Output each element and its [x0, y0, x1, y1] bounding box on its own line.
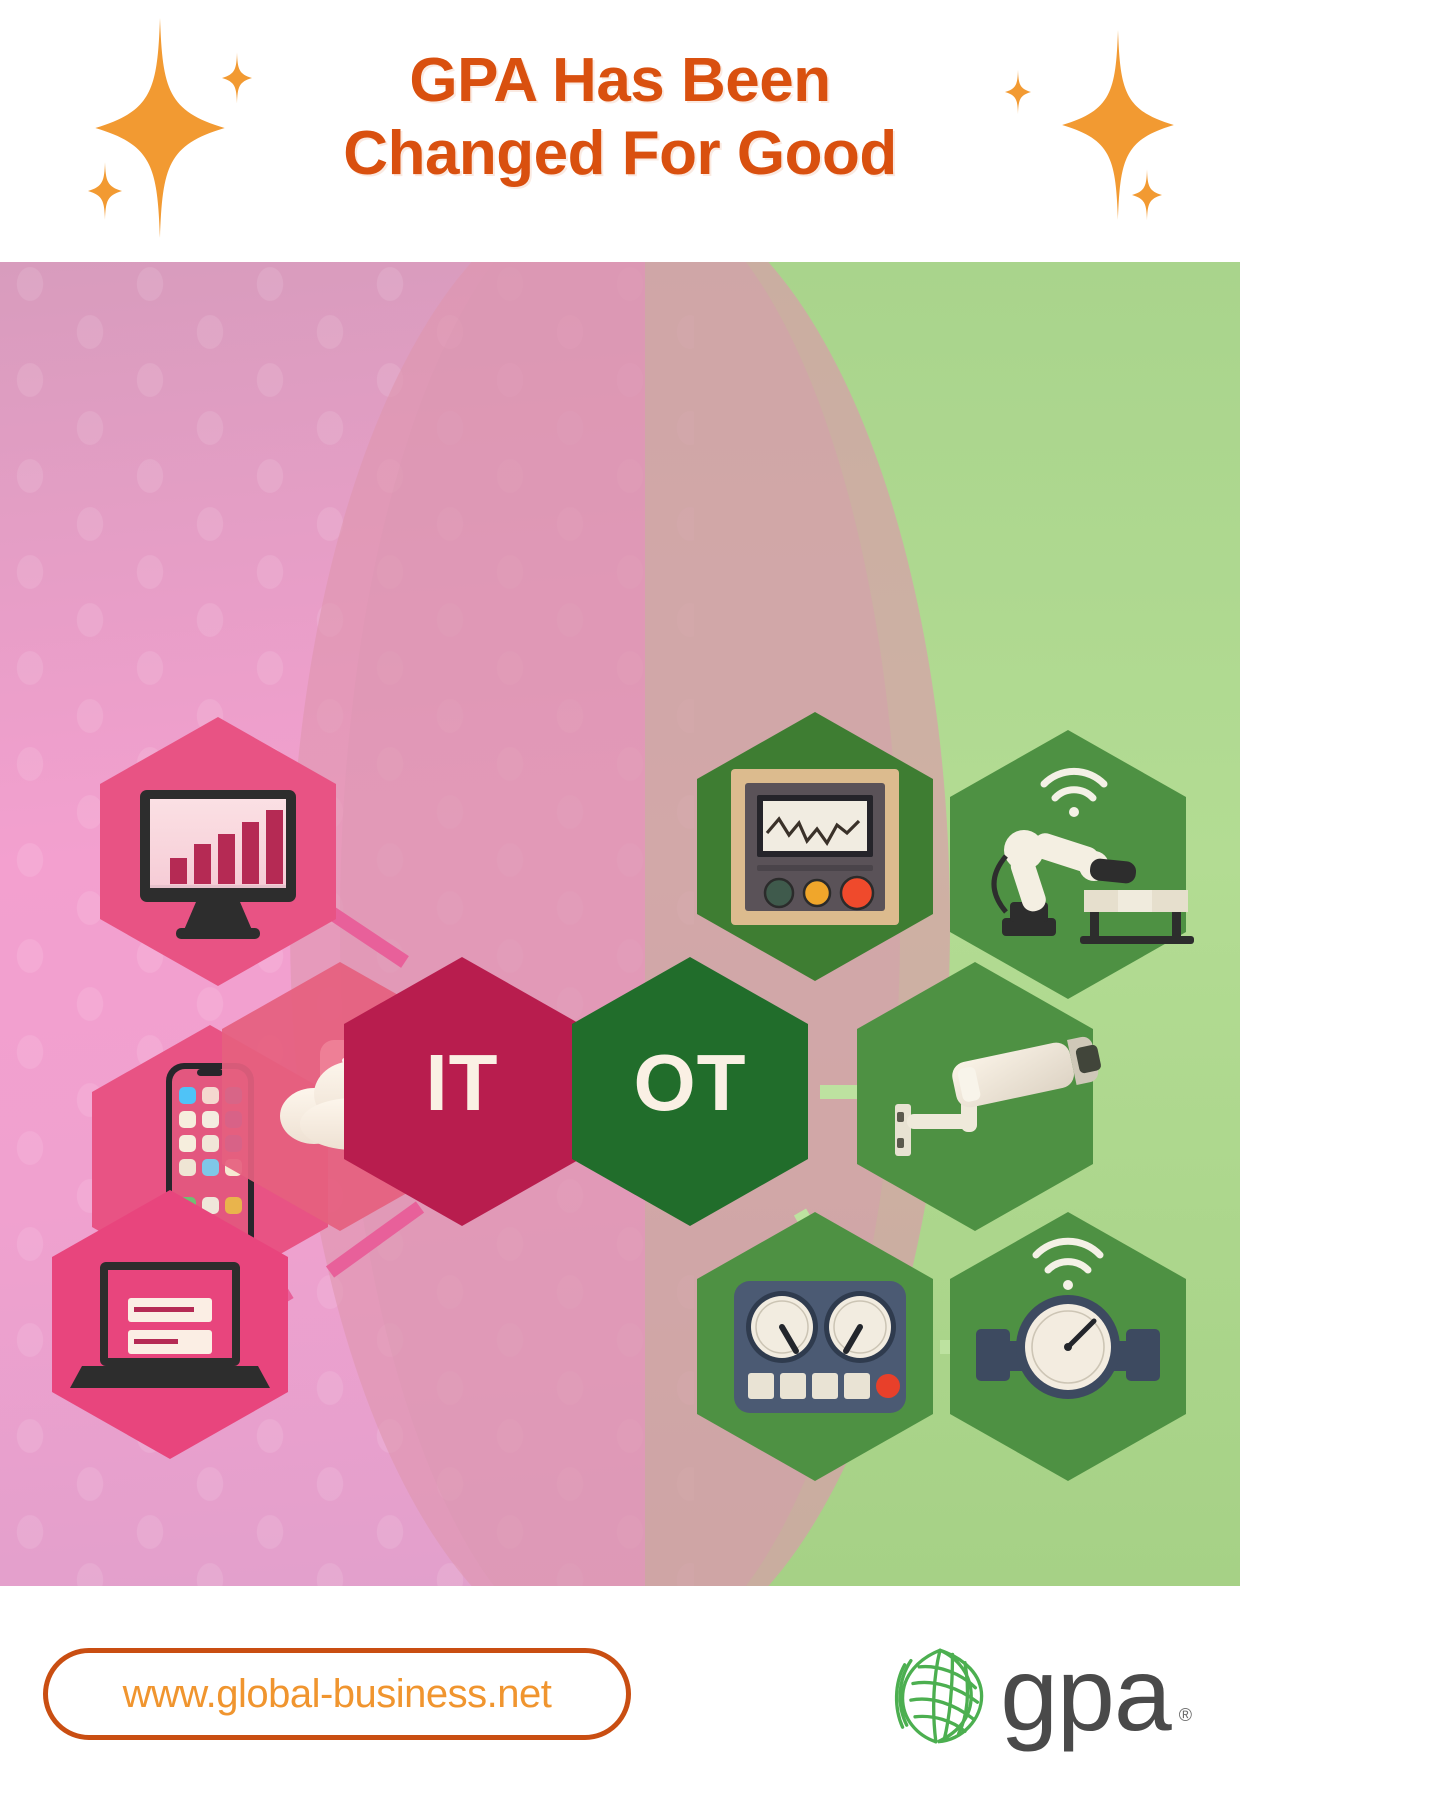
- hex-node-ot-center: [572, 957, 808, 1226]
- website-url-pill[interactable]: www.global-business.net: [43, 1648, 631, 1740]
- gpa-wordmark: gpa: [1000, 1648, 1171, 1744]
- hex-node-gauge-panel: [697, 1212, 933, 1481]
- globe-mark-icon: [888, 1644, 992, 1748]
- hex-node-desktop-analytics: [100, 717, 336, 986]
- hexagon-network: [0, 262, 1240, 1586]
- hex-node-robot-arm: [950, 730, 1194, 999]
- registered-trademark-symbol: ®: [1179, 1705, 1192, 1726]
- page-title-line-1: GPA Has Been: [0, 44, 1240, 117]
- hex-node-flow-meter: [950, 1212, 1186, 1481]
- hex-node-security-camera: [857, 962, 1104, 1231]
- it-ot-diagram: IT OT: [0, 262, 1240, 1586]
- header-banner: GPA Has Been Changed For Good: [0, 0, 1240, 262]
- footer-bar: www.global-business.net: [0, 1586, 1240, 1800]
- hex-node-hmi-panel: [697, 712, 933, 981]
- page-title: GPA Has Been Changed For Good: [0, 44, 1240, 190]
- infographic-page: GPA Has Been Changed For Good: [0, 0, 1240, 1800]
- gpa-logo: gpa ®: [888, 1644, 1192, 1748]
- page-title-line-2: Changed For Good: [0, 117, 1240, 190]
- website-url-text: www.global-business.net: [123, 1672, 552, 1717]
